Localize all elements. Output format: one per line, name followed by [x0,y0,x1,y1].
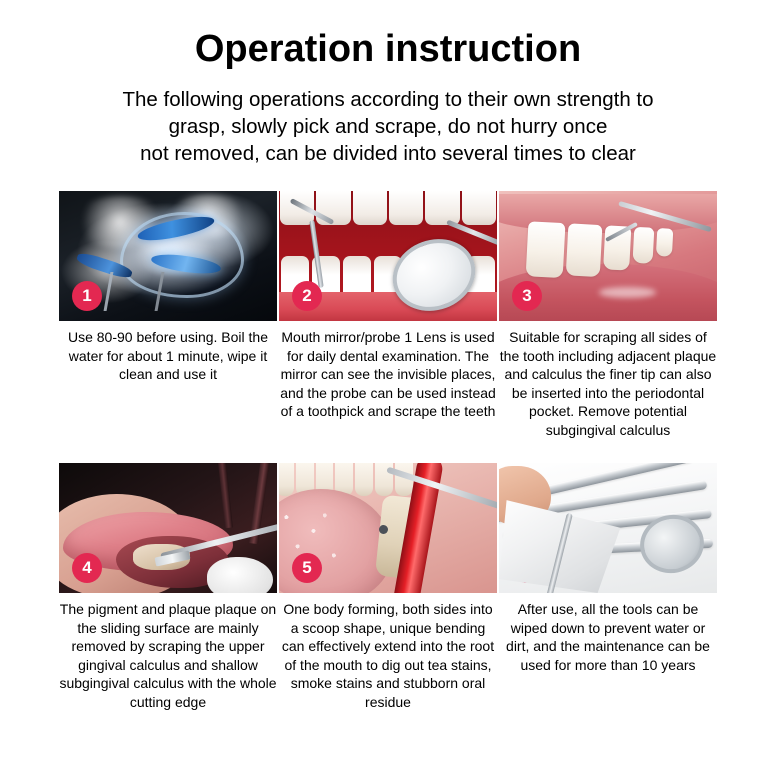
step-card-2: 2 Mouth mirror/probe 1 Lens is used for … [278,191,498,439]
page-title: Operation instruction [0,26,776,72]
step-caption-6: After use, all the tools can be wiped do… [499,600,717,674]
steps-grid-row-1: 1 Use 80-90 before using. Boil the water… [0,191,776,439]
step-number-badge-3: 3 [512,281,542,311]
step-card-5: 5 One body forming, both sides into a sc… [278,463,498,711]
step-3-photo: 3 [499,191,717,321]
step-number-badge-2: 2 [292,281,322,311]
step-caption-3: Suitable for scraping all sides of the t… [499,328,717,439]
step-number-badge-5: 5 [292,553,322,583]
step-5-photo: 5 [279,463,497,593]
page-header: Operation instruction The following oper… [0,0,776,167]
step-number-badge-4: 4 [72,553,102,583]
metal-tongs-icon [104,272,165,311]
step-caption-2: Mouth mirror/probe 1 Lens is used for da… [279,328,497,421]
step-caption-4: The pigment and plaque plaque on the sli… [59,600,277,711]
step-caption-5: One body forming, both sides into a scoo… [279,600,497,711]
step-card-4: 4 The pigment and plaque plaque on the s… [58,463,278,711]
front-teeth-icon [524,221,675,283]
page-subtitle: The following operations according to th… [0,86,776,167]
steps-grid-row-2: 4 The pigment and plaque plaque on the s… [0,463,776,711]
step-number-badge-1: 1 [72,281,102,311]
step-caption-1: Use 80-90 before using. Boil the water f… [59,328,277,384]
tools-maintenance-illustration [499,463,717,593]
step-2-photo: 2 [279,191,497,321]
operation-instruction-page: Operation instruction The following oper… [0,0,776,772]
gauze-pad-icon [207,557,272,593]
step-card-1: 1 Use 80-90 before using. Boil the water… [58,191,278,439]
lip-highlight-icon [599,287,656,297]
step-card-3: 3 Suitable for scraping all sides of the… [498,191,718,439]
step-card-6: 6 After use, all the tools can be wiped … [498,463,718,711]
forceps-arm-icon [217,463,233,528]
step-6-photo: 6 [499,463,717,593]
step-1-photo: 1 [59,191,277,321]
step-4-photo: 4 [59,463,277,593]
